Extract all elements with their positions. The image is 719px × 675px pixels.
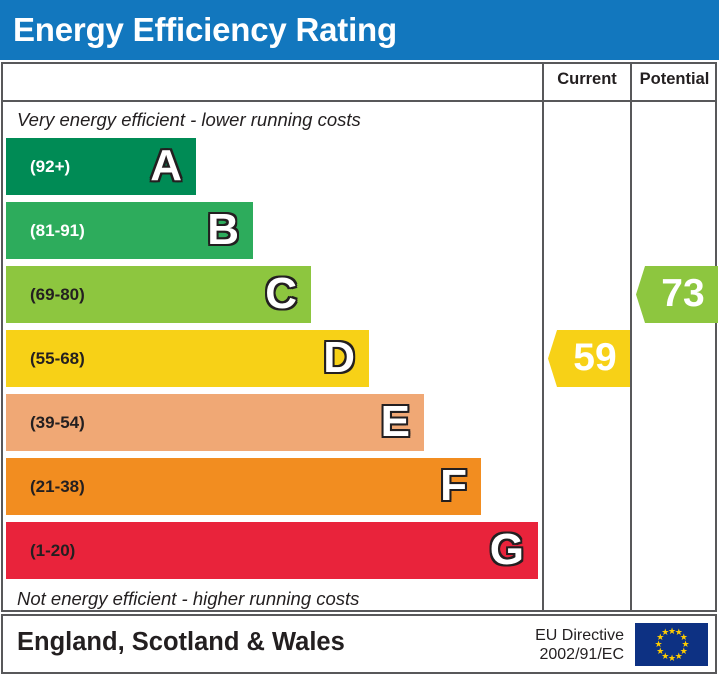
band-range-c: (69-80): [30, 285, 85, 305]
eu-flag-icon: ★★★★★★★★★★★★: [635, 623, 708, 666]
band-bar-f: (21-38)F: [6, 458, 481, 515]
band-letter-c: C: [265, 272, 297, 316]
footer-directive-label: EU Directive 2002/91/EC: [504, 626, 624, 664]
band-bar-g: (1-20)G: [6, 522, 538, 579]
band-letter-d: D: [323, 336, 355, 380]
band-range-f: (21-38): [30, 477, 85, 497]
eu-star-icon: ★: [668, 655, 675, 662]
band-letter-g: G: [490, 528, 524, 572]
band-range-a: (92+): [30, 157, 70, 177]
band-letter-a: A: [150, 144, 182, 188]
column-divider-current: [542, 64, 544, 610]
band-letter-f: F: [440, 464, 467, 508]
energy-efficiency-certificate: Energy Efficiency Rating Current Potenti…: [0, 0, 719, 675]
column-divider-potential: [630, 64, 632, 610]
rating-arrow-potential: 73: [636, 266, 718, 323]
band-letter-b: B: [207, 208, 239, 252]
band-bar-e: (39-54)E: [6, 394, 424, 451]
band-letter-e: E: [381, 400, 410, 444]
rating-value-current: 59: [548, 338, 630, 378]
rating-value-potential: 73: [636, 274, 718, 314]
header-divider: [3, 100, 715, 102]
rating-table: Current Potential Very energy efficient …: [1, 62, 717, 612]
band-bar-c: (69-80)C: [6, 266, 311, 323]
band-bar-a: (92+)A: [6, 138, 196, 195]
column-header-potential: Potential: [632, 70, 717, 89]
band-range-e: (39-54): [30, 413, 85, 433]
page-title: Energy Efficiency Rating: [13, 8, 397, 52]
directive-line-2: 2002/91/EC: [504, 645, 624, 664]
chart-header-bar: Energy Efficiency Rating: [0, 0, 719, 60]
caption-inefficient: Not energy efficient - higher running co…: [17, 588, 359, 610]
rating-arrow-current: 59: [548, 330, 630, 387]
footer-region-label: England, Scotland & Wales: [17, 628, 345, 657]
band-range-d: (55-68): [30, 349, 85, 369]
footer-bar: England, Scotland & Wales EU Directive 2…: [1, 614, 717, 674]
eu-star-icon: ★: [655, 641, 662, 648]
eu-star-icon: ★: [661, 629, 668, 636]
column-header-current: Current: [544, 70, 630, 89]
directive-line-1: EU Directive: [504, 626, 624, 645]
band-range-b: (81-91): [30, 221, 85, 241]
caption-efficient: Very energy efficient - lower running co…: [17, 109, 361, 131]
band-bar-d: (55-68)D: [6, 330, 369, 387]
band-range-g: (1-20): [30, 541, 75, 561]
band-bar-b: (81-91)B: [6, 202, 253, 259]
